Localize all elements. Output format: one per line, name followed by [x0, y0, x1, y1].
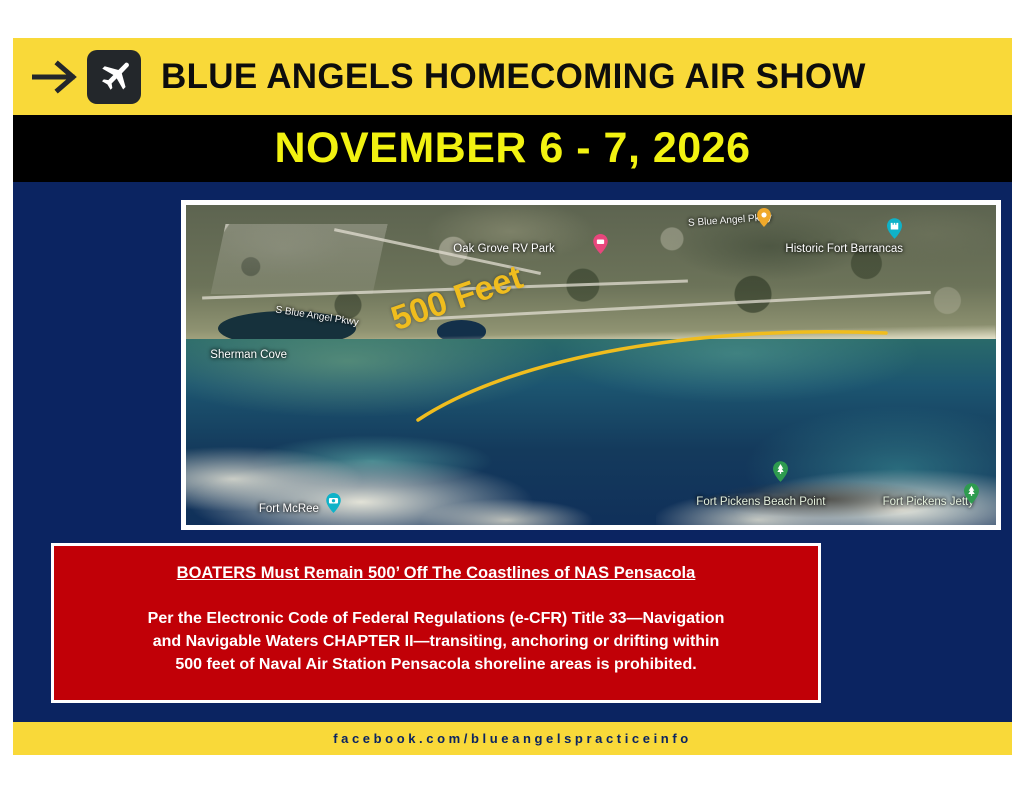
- title-banner: BLUE ANGELS HOMECOMING AIR SHOW: [13, 38, 1012, 115]
- page-title: BLUE ANGELS HOMECOMING AIR SHOW: [161, 57, 866, 97]
- park-pin-icon-beach-point[interactable]: [773, 461, 788, 481]
- map-label-historic-fort-barrancas: Historic Fort Barrancas: [785, 243, 903, 255]
- fort-pin-icon[interactable]: [887, 218, 902, 238]
- notice-line-3: 500 feet of Naval Air Station Pensacola …: [72, 653, 800, 676]
- map-label-sherman-cove: Sherman Cove: [210, 349, 287, 361]
- notice-heading: BOATERS Must Remain 500’ Off The Coastli…: [72, 564, 800, 583]
- notice-line-1: Per the Electronic Code of Federal Regul…: [72, 607, 800, 630]
- notice-box: BOATERS Must Remain 500’ Off The Coastli…: [51, 543, 821, 703]
- event-date: NOVEMBER 6 - 7, 2026: [274, 124, 750, 173]
- map-label-fort-pickens-beach-point: Fort Pickens Beach Point: [696, 496, 825, 508]
- airplane-icon: [87, 50, 141, 104]
- camera-pin-icon[interactable]: [326, 493, 341, 513]
- satellite-map[interactable]: 500 Feet Oak Grove RV Park S Blue Angel …: [186, 205, 996, 525]
- map-label-fort-mcree: Fort McRee: [259, 503, 319, 515]
- map-frame: 500 Feet Oak Grove RV Park S Blue Angel …: [181, 200, 1001, 530]
- notice-line-2: and Navigable Waters CHAPTER II—transiti…: [72, 630, 800, 653]
- notice-body: Per the Electronic Code of Federal Regul…: [72, 607, 800, 677]
- arrow-right-icon: [31, 57, 83, 97]
- map-label-oak-grove-rv-park: Oak Grove RV Park: [453, 243, 554, 255]
- park-pin-icon-jetty[interactable]: [964, 483, 979, 503]
- map-label-fort-pickens-jetty: Fort Pickens Jetty: [883, 496, 974, 508]
- date-banner: NOVEMBER 6 - 7, 2026: [13, 115, 1012, 182]
- footer-banner: facebook.com/blueangelspracticeinfo: [13, 722, 1012, 755]
- circle-pin-icon[interactable]: [757, 208, 772, 228]
- poster: BLUE ANGELS HOMECOMING AIR SHOW NOVEMBER…: [13, 38, 1012, 755]
- facebook-url[interactable]: facebook.com/blueangelspracticeinfo: [333, 731, 692, 746]
- lodging-pin-icon[interactable]: [593, 234, 608, 254]
